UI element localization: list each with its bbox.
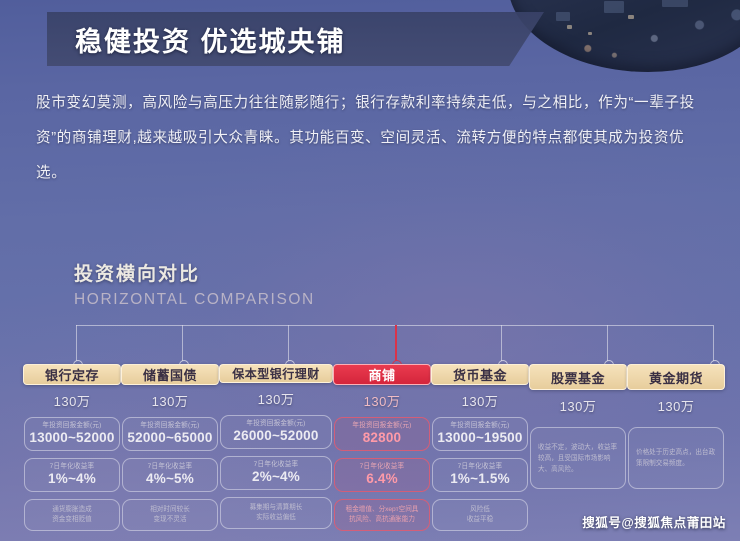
title-banner: 稳健投资 优选城央铺 xyxy=(47,12,544,66)
remark-line: 变现不灵活 xyxy=(154,515,187,525)
remark-line: 租金增值、分херт空间具 xyxy=(346,505,419,515)
remark-line: 资金变相贬值 xyxy=(52,515,92,525)
page-title: 稳健投资 优选城央铺 xyxy=(75,20,346,59)
return-amount-value: 13000~19500 xyxy=(437,430,522,446)
principal-amount: 130万 xyxy=(462,391,499,410)
return-amount-box: 年投资回报金额(元)13000~52000 xyxy=(24,417,120,451)
annual-yield-label: 7日年化收益率 xyxy=(50,462,95,471)
rail-drop xyxy=(607,325,608,361)
principal-amount: 130万 xyxy=(54,391,91,410)
principal-amount: 130万 xyxy=(258,389,295,408)
rail-drop xyxy=(182,325,183,361)
annual-yield-label: 7日年化收益率 xyxy=(360,462,405,471)
return-amount-label: 年投资回报金额(元) xyxy=(246,419,305,428)
category-chip[interactable]: 银行定存 xyxy=(23,364,121,385)
remark-box: 收益不定，波动大，收益率较高，且受国际市场影响大、高风险。 xyxy=(530,427,626,489)
rail-drop xyxy=(713,325,714,361)
comparison-column: 货币基金130万年投资回报金额(元)13000~195007日年化收益率1%~1… xyxy=(432,364,528,529)
annual-yield-label: 7日年化收益率 xyxy=(254,460,299,469)
remark-line: 价格处于历史高点，出台政策限制交易频度。 xyxy=(636,447,716,469)
return-amount-box: 年投资回报金额(元)52000~65000 xyxy=(122,417,218,451)
remark-line: 相对时间较长 xyxy=(150,505,190,515)
return-amount-value: 13000~52000 xyxy=(29,430,114,446)
remark-box: 相对时间较长变现不灵活 xyxy=(122,499,218,531)
return-amount-value: 52000~65000 xyxy=(127,430,212,446)
category-chip[interactable]: 储蓄国债 xyxy=(121,364,219,385)
principal-amount: 130万 xyxy=(364,391,401,410)
remark-line: 收益平稳 xyxy=(467,515,493,525)
annual-yield-value: 1%~1.5% xyxy=(450,471,510,487)
annual-yield-value: 6.4% xyxy=(366,471,398,487)
annual-yield-box: 7日年化收益率4%~5% xyxy=(122,458,218,492)
rail-drop xyxy=(288,325,289,361)
comparison-column: 银行定存130万年投资回报金额(元)13000~520007日年化收益率1%~4… xyxy=(24,364,120,529)
category-chip[interactable]: 保本型银行理财 xyxy=(219,364,333,383)
remark-line: 收益不定，波动大，收益率较高，且受国际市场影响大、高风险。 xyxy=(538,442,618,475)
aerial-city-photo xyxy=(508,0,740,72)
return-amount-box: 年投资回报金额(元)13000~19500 xyxy=(432,417,528,451)
return-amount-label: 年投资回报金额(元) xyxy=(352,421,411,430)
comparison-column: 股票基金130万收益不定，波动大，收益率较高，且受国际市场影响大、高风险。 xyxy=(530,364,626,529)
watermark: 搜狐号@搜狐焦点莆田站 xyxy=(582,512,726,531)
annual-yield-box: 7日年化收益率2%~4% xyxy=(220,456,332,490)
rail-drop xyxy=(395,325,397,361)
return-amount-box: 年投资回报金额(元)26000~52000 xyxy=(220,415,332,449)
return-amount-value: 82800 xyxy=(363,430,402,446)
remark-line: 实际收益偏低 xyxy=(256,513,296,523)
remark-line: 风险低 xyxy=(470,505,490,515)
comparison-column: 商铺130万年投资回报金额(元)828007日年化收益率6.4%租金增值、分хе… xyxy=(334,364,430,529)
remark-box: 通货膨胀造成资金变相贬值 xyxy=(24,499,120,531)
annual-yield-box: 7日年化收益率1%~4% xyxy=(24,458,120,492)
comparison-column: 储蓄国债130万年投资回报金额(元)52000~650007日年化收益率4%~5… xyxy=(122,364,218,529)
remark-line: 通货膨胀造成 xyxy=(52,505,92,515)
annual-yield-value: 4%~5% xyxy=(146,471,194,487)
principal-amount: 130万 xyxy=(152,391,189,410)
category-chip[interactable]: 商铺 xyxy=(333,364,431,385)
section-heading: 投资横向对比 HORIZONTAL COMPARISON xyxy=(74,259,315,309)
principal-amount: 130万 xyxy=(560,396,597,415)
infographic-page: 稳健投资 优选城央铺 股市变幻莫测，高风险与高压力往往随影随行；银行存款利率持续… xyxy=(0,0,740,541)
section-title-cn: 投资横向对比 xyxy=(74,259,315,286)
category-chip[interactable]: 股票基金 xyxy=(529,364,627,390)
return-amount-box: 年投资回报金额(元)82800 xyxy=(334,417,430,451)
remark-line: 募集期与清算期长 xyxy=(250,503,303,513)
return-amount-label: 年投资回报金额(元) xyxy=(450,421,509,430)
principal-amount: 130万 xyxy=(658,396,695,415)
remark-box: 租金增值、分херт空间具抗风险、高抗通胀能力 xyxy=(334,499,430,531)
annual-yield-label: 7日年化收益率 xyxy=(148,462,193,471)
section-title-en: HORIZONTAL COMPARISON xyxy=(74,291,315,309)
annual-yield-box: 7日年化收益率1%~1.5% xyxy=(432,458,528,492)
comparison-column: 保本型银行理财130万年投资回报金额(元)26000~520007日年化收益率2… xyxy=(220,364,332,529)
rail-drop xyxy=(76,325,77,361)
category-chip[interactable]: 黄金期货 xyxy=(627,364,725,390)
category-chip[interactable]: 货币基金 xyxy=(431,364,529,385)
comparison-column: 黄金期货130万价格处于历史高点，出台政策限制交易频度。 xyxy=(628,364,724,529)
intro-paragraph: 股市变幻莫测，高风险与高压力往往随影随行；银行存款利率持续走低，与之相比，作为“… xyxy=(36,86,708,191)
return-amount-label: 年投资回报金额(元) xyxy=(42,421,101,430)
remark-box: 风险低收益平稳 xyxy=(432,499,528,531)
comparison-columns: 银行定存130万年投资回报金额(元)13000~520007日年化收益率1%~4… xyxy=(24,364,724,529)
return-amount-value: 26000~52000 xyxy=(233,428,318,444)
rail-drop xyxy=(501,325,502,361)
annual-yield-box: 7日年化收益率6.4% xyxy=(334,458,430,492)
remark-line: 抗风险、高抗通胀能力 xyxy=(349,515,415,525)
remark-box: 价格处于历史高点，出台政策限制交易频度。 xyxy=(628,427,724,489)
annual-yield-value: 2%~4% xyxy=(252,469,300,485)
remark-box: 募集期与清算期长实际收益偏低 xyxy=(220,497,332,529)
return-amount-label: 年投资回报金额(元) xyxy=(140,421,199,430)
annual-yield-label: 7日年化收益率 xyxy=(458,462,503,471)
annual-yield-value: 1%~4% xyxy=(48,471,96,487)
